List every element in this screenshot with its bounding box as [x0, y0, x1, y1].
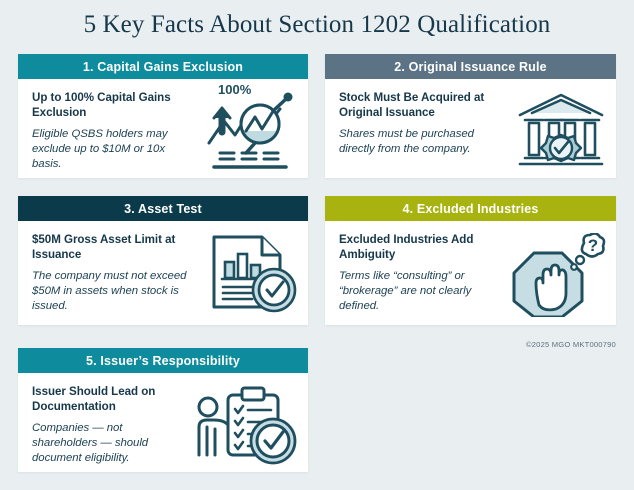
copyright-notice: ©2025 MGO MKT000790	[0, 340, 616, 349]
card-description-5: Companies — not shareholders — should do…	[32, 421, 188, 466]
card-text-5: Issuer Should Lead on Documentation Comp…	[32, 385, 188, 466]
svg-text:?: ?	[588, 236, 598, 255]
card-header-2: 2. Original Issuance Rule	[325, 54, 616, 79]
card-text-2: Stock Must Be Acquired at Original Issua…	[339, 91, 510, 157]
card-body-1: Up to 100% Capital Gains Exclusion Eligi…	[18, 79, 308, 182]
fact-card-excluded-industries: 4. Excluded Industries Excluded Industri…	[325, 196, 616, 325]
card-heading-4: Excluded Industries Add Ambiguity	[339, 233, 504, 262]
card-description-4: Terms like “consulting” or “brokerage” a…	[339, 269, 504, 314]
bank-building-seal-icon	[516, 91, 606, 171]
card-header-3: 3. Asset Test	[18, 196, 308, 221]
card-body-3: $50M Gross Asset Limit at Issuance The c…	[18, 221, 308, 325]
card-heading-5: Issuer Should Lead on Documentation	[32, 385, 188, 414]
card-text-1: Up to 100% Capital Gains Exclusion Eligi…	[32, 91, 196, 172]
card-heading-3: $50M Gross Asset Limit at Issuance	[32, 233, 202, 262]
card-body-5: Issuer Should Lead on Documentation Comp…	[18, 373, 308, 477]
card-heading-1: Up to 100% Capital Gains Exclusion	[32, 91, 196, 120]
card-description-2: Shares must be purchased directly from t…	[339, 127, 510, 157]
card-description-3: The company must not exceed $50M in asse…	[32, 269, 202, 314]
fact-card-issuer-responsibility: 5. Issuer’s Responsibility Issuer Should…	[18, 348, 308, 472]
page-title: 5 Key Facts About Section 1202 Qualifica…	[0, 8, 634, 42]
card-header-4: 4. Excluded Industries	[325, 196, 616, 221]
card-body-4: Excluded Industries Add Ambiguity Terms …	[325, 221, 616, 327]
document-bar-chart-check-icon	[208, 233, 298, 315]
stop-hand-question-icon: ?	[510, 233, 606, 317]
card-heading-2: Stock Must Be Acquired at Original Issua…	[339, 91, 510, 120]
card-text-3: $50M Gross Asset Limit at Issuance The c…	[32, 233, 202, 314]
card-description-1: Eligible QSBS holders may exclude up to …	[32, 127, 196, 172]
card-body-2: Stock Must Be Acquired at Original Issua…	[325, 79, 616, 181]
fact-card-capital-gains-exclusion: 1. Capital Gains Exclusion Up to 100% Ca…	[18, 54, 308, 178]
person-clipboard-check-icon	[194, 385, 298, 467]
chart-magnifier-100-percent-icon	[202, 91, 298, 171]
fact-card-original-issuance-rule: 2. Original Issuance Rule Stock Must Be …	[325, 54, 616, 178]
fact-card-asset-test: 3. Asset Test $50M Gross Asset Limit at …	[18, 196, 308, 325]
card-text-4: Excluded Industries Add Ambiguity Terms …	[339, 233, 504, 314]
card-header-1: 1. Capital Gains Exclusion	[18, 54, 308, 79]
icon-label-100-percent: 100%	[218, 82, 251, 97]
card-header-5: 5. Issuer’s Responsibility	[18, 348, 308, 373]
